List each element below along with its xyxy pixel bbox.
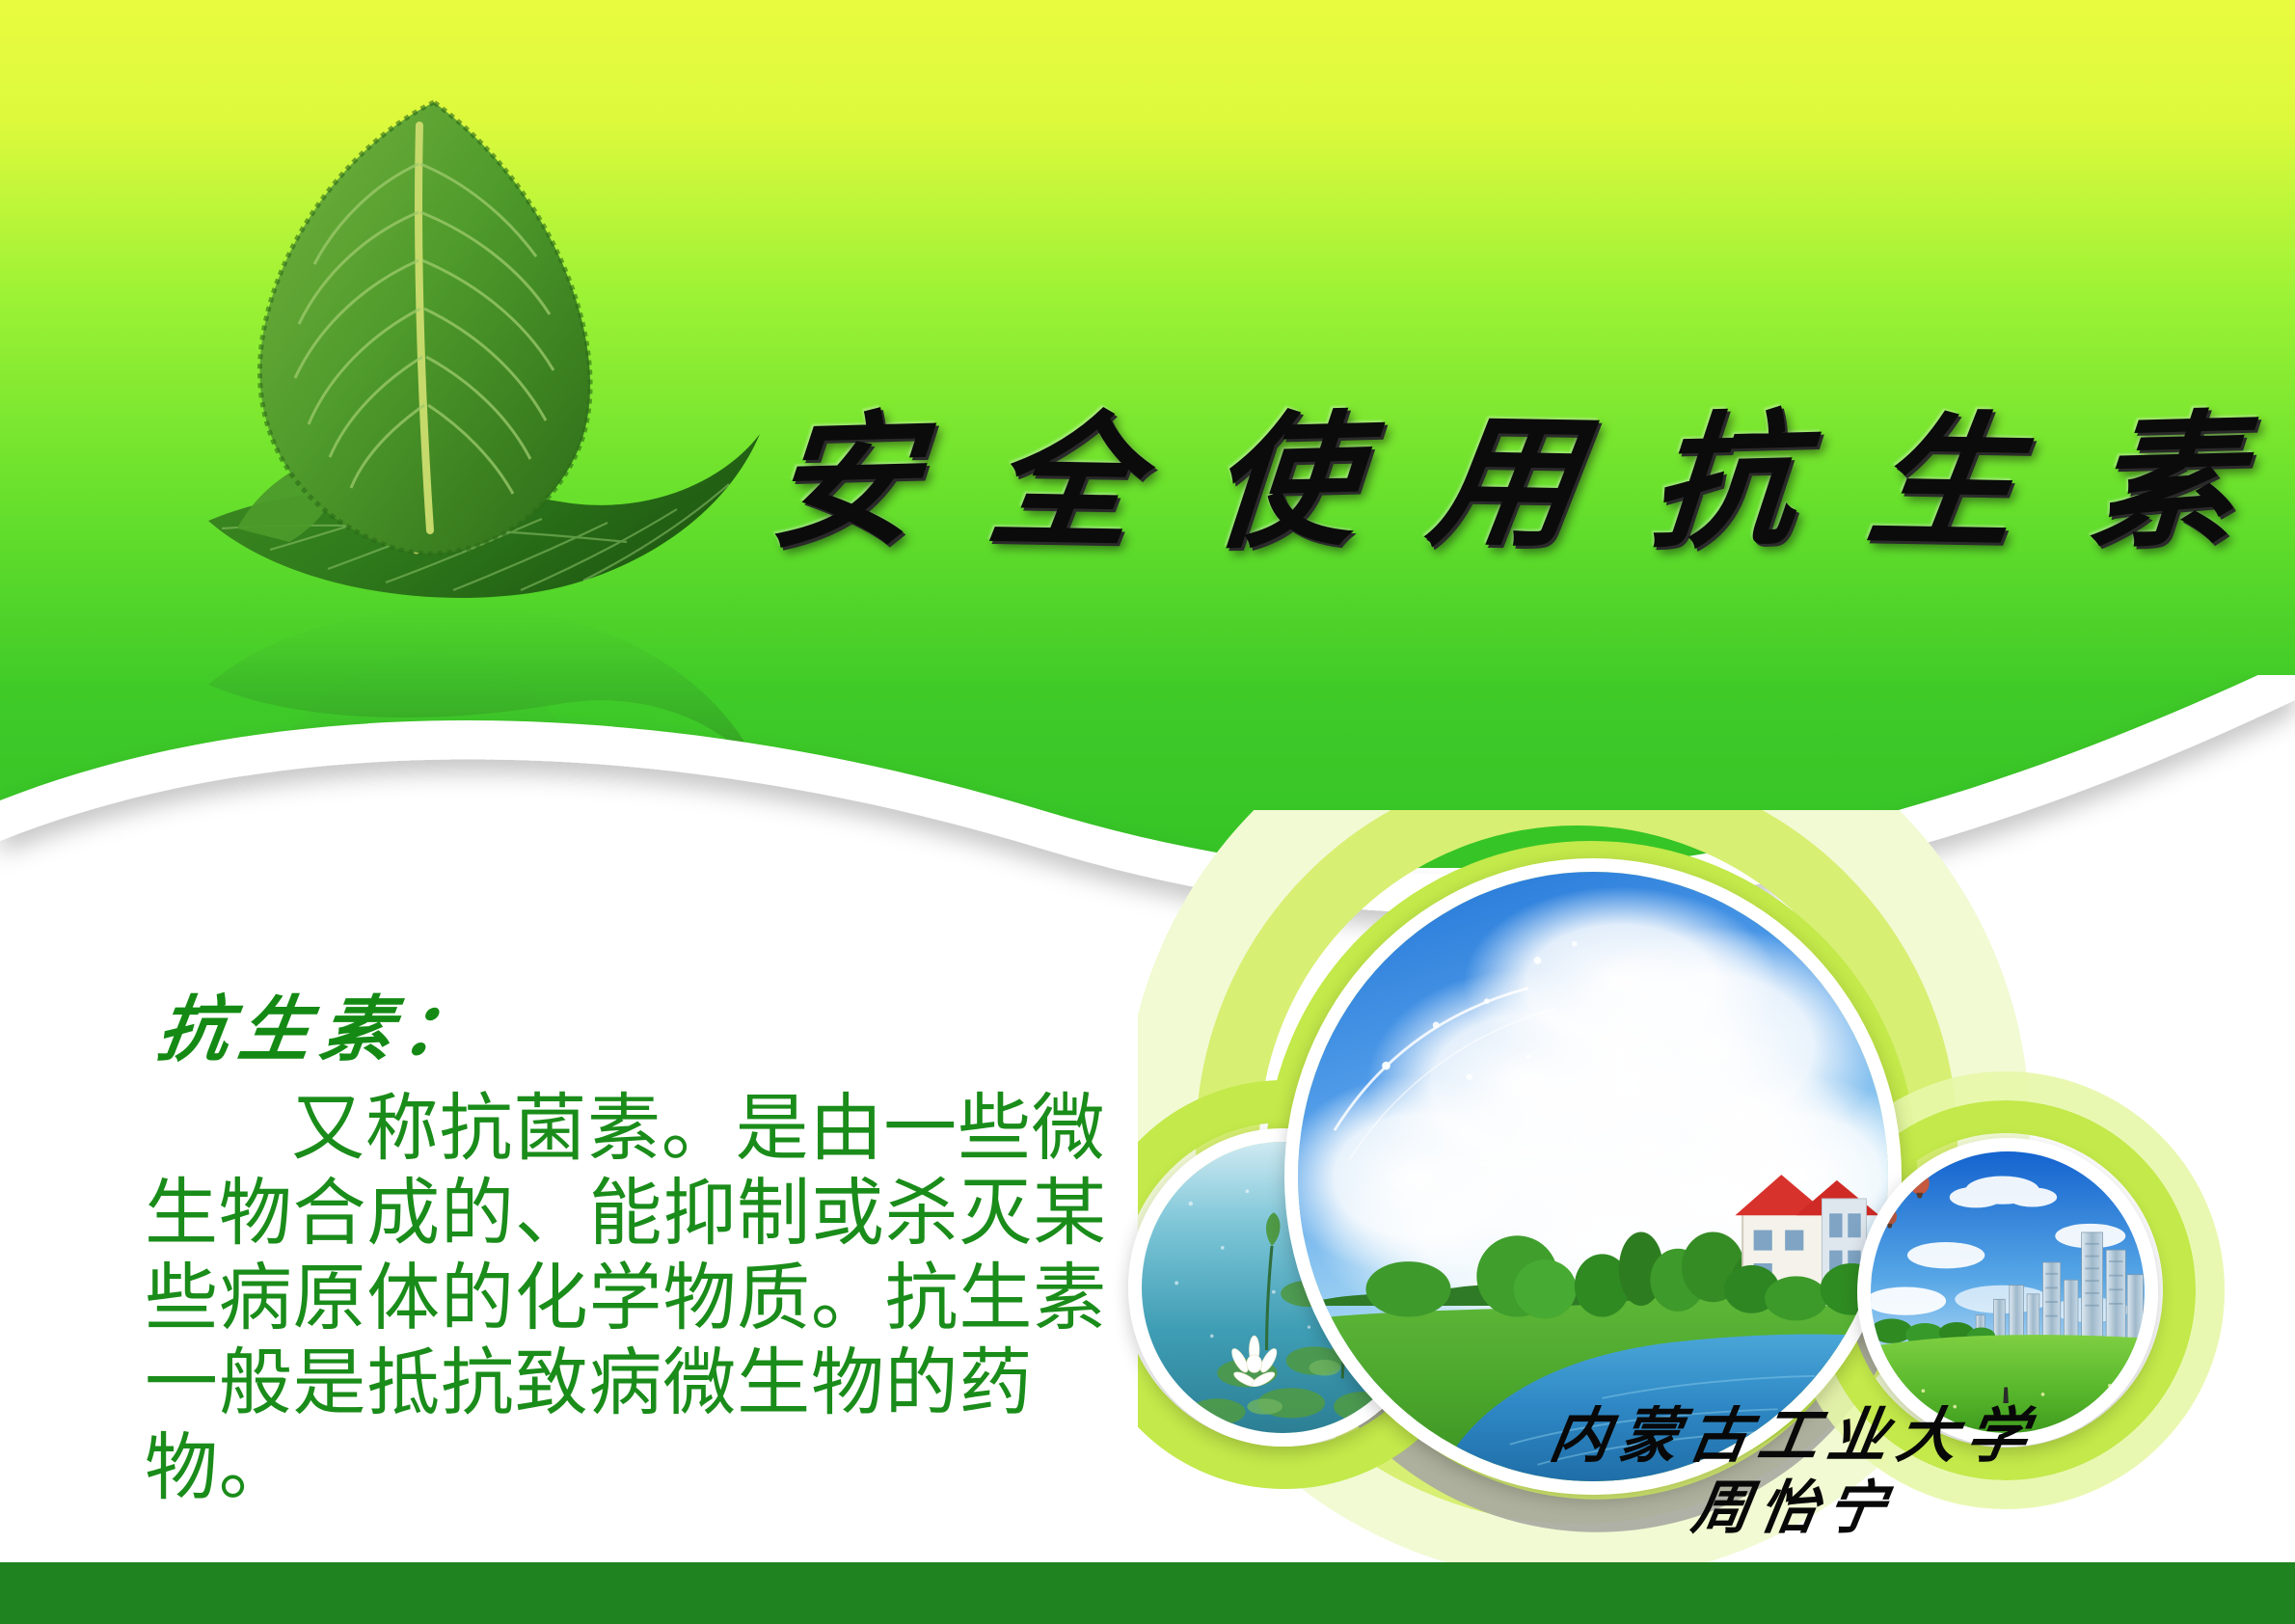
section-body-text: 又称抗菌素。是由一些微生物合成的、能抑制或杀灭某些病原体的化学物质。抗生素一般是… — [145, 1086, 1119, 1511]
title-char: 抗 — [1646, 408, 1803, 556]
top-green-banner: 安 全 使 用 抗 生 素 — [0, 0, 2295, 868]
section-heading: 抗生素： — [153, 993, 1124, 1069]
bottom-green-bar — [0, 1562, 2295, 1624]
poster-canvas: 安 全 使 用 抗 生 素 — [0, 0, 2295, 1624]
signature-organization: 内蒙古工业大学 — [1451, 1403, 2137, 1469]
content-text-block: 抗生素： 又称抗菌素。是由一些微生物合成的、能抑制或杀灭某些病原体的化学物质。抗… — [145, 993, 1119, 1510]
river-villa-image — [1298, 872, 1888, 1481]
river-villa-landscape-photo — [1284, 858, 1902, 1495]
signature-author: 周怡宁 — [1451, 1476, 2136, 1540]
page-title: 安 全 使 用 抗 生 素 — [771, 376, 2237, 588]
title-char: 全 — [982, 409, 1147, 556]
city-skyline-image — [1871, 1151, 2145, 1433]
signature-block: 内蒙古工业大学 周怡宁 — [1456, 1403, 2131, 1540]
title-char: 安 — [766, 408, 923, 556]
title-char: 素 — [2086, 408, 2243, 556]
title-char: 使 — [1205, 408, 1363, 556]
leaf-icon — [145, 68, 771, 829]
title-char: 用 — [1421, 409, 1586, 556]
title-char: 生 — [1862, 409, 2027, 556]
leaf-artwork — [145, 68, 771, 829]
